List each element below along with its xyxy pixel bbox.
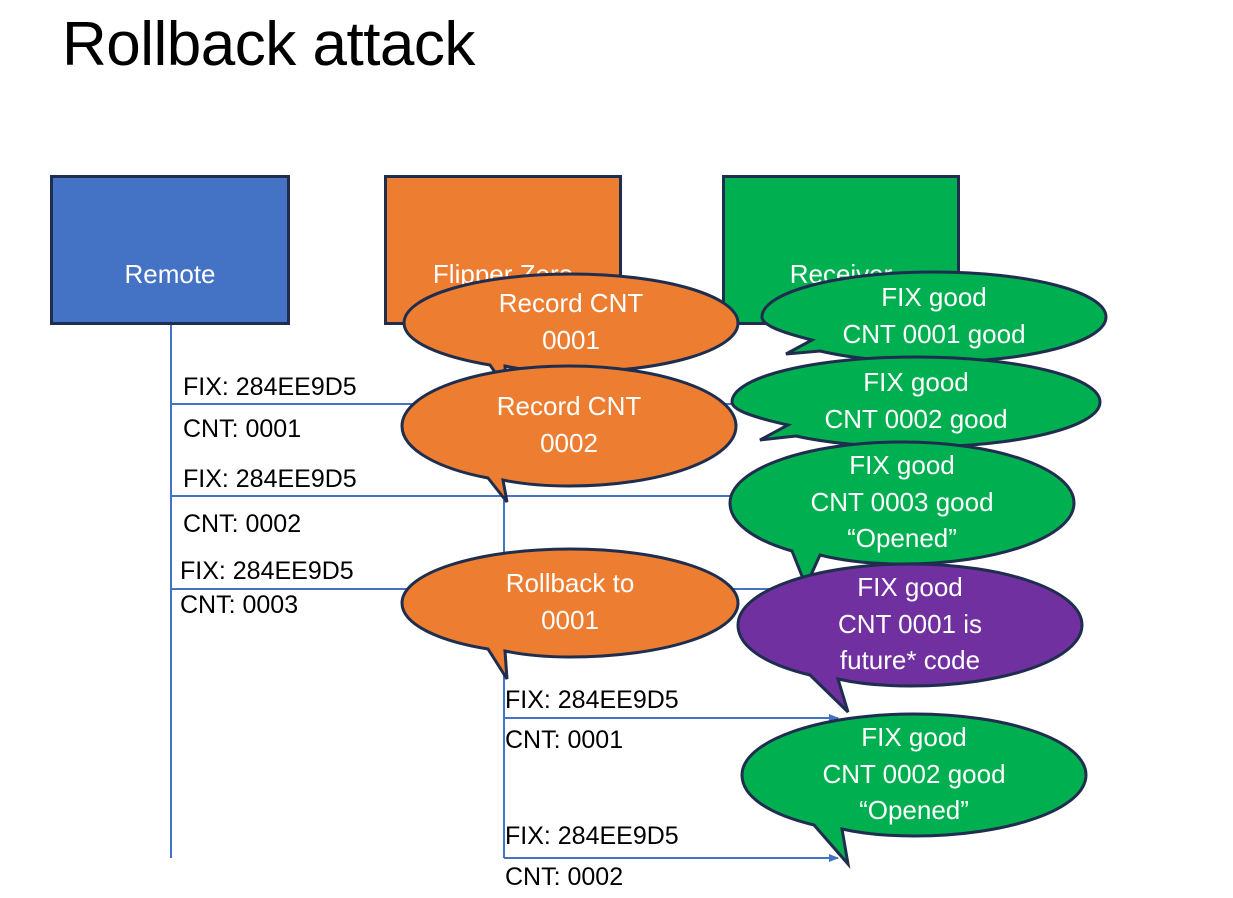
callout-receiver-cnt-0002-good[interactable]: FIX good CNT 0002 good xyxy=(730,355,1102,447)
callout-receiver-cnt-0001-good[interactable]: FIX good CNT 0001 good xyxy=(760,270,1108,362)
message-1-cnt-label: CNT: 0001 xyxy=(183,415,301,444)
callout-shape xyxy=(740,712,1088,872)
lane-header-remote[interactable]: Remote xyxy=(50,175,290,325)
callout-shape xyxy=(736,562,1084,714)
message-5-cnt-label: CNT: 0002 xyxy=(505,863,623,892)
message-3-fix-label: FIX: 284EE9D5 xyxy=(180,557,354,586)
message-1-fix-label: FIX: 284EE9D5 xyxy=(183,373,357,402)
message-4-fix-label: FIX: 284EE9D5 xyxy=(505,686,679,715)
callout-receiver-cnt-0001-future-code[interactable]: FIX good CNT 0001 is future* code xyxy=(736,562,1084,686)
callout-record-cnt-0001[interactable]: Record CNT 0001 xyxy=(402,272,740,372)
callout-shape xyxy=(400,547,740,682)
slide-canvas: Rollback attack Remote Flipper Zero Rece… xyxy=(0,0,1233,898)
callout-rollback-to-0001[interactable]: Rollback to 0001 xyxy=(400,547,740,657)
slide-title: Rollback attack xyxy=(62,10,475,79)
callout-record-cnt-0002[interactable]: Record CNT 0002 xyxy=(400,364,738,486)
message-2-cnt-label: CNT: 0002 xyxy=(183,510,301,539)
message-3-cnt-label: CNT: 0003 xyxy=(180,591,298,620)
lane-label-remote: Remote xyxy=(124,260,215,289)
message-4-cnt-label: CNT: 0001 xyxy=(505,726,623,755)
callout-shape xyxy=(400,364,738,504)
message-2-fix-label: FIX: 284EE9D5 xyxy=(183,465,357,494)
message-5-fix-label: FIX: 284EE9D5 xyxy=(505,822,679,851)
callout-receiver-cnt-0003-opened[interactable]: FIX good CNT 0003 good “Opened” xyxy=(728,440,1076,564)
callout-receiver-cnt-0002-opened[interactable]: FIX good CNT 0002 good “Opened” xyxy=(740,712,1088,836)
